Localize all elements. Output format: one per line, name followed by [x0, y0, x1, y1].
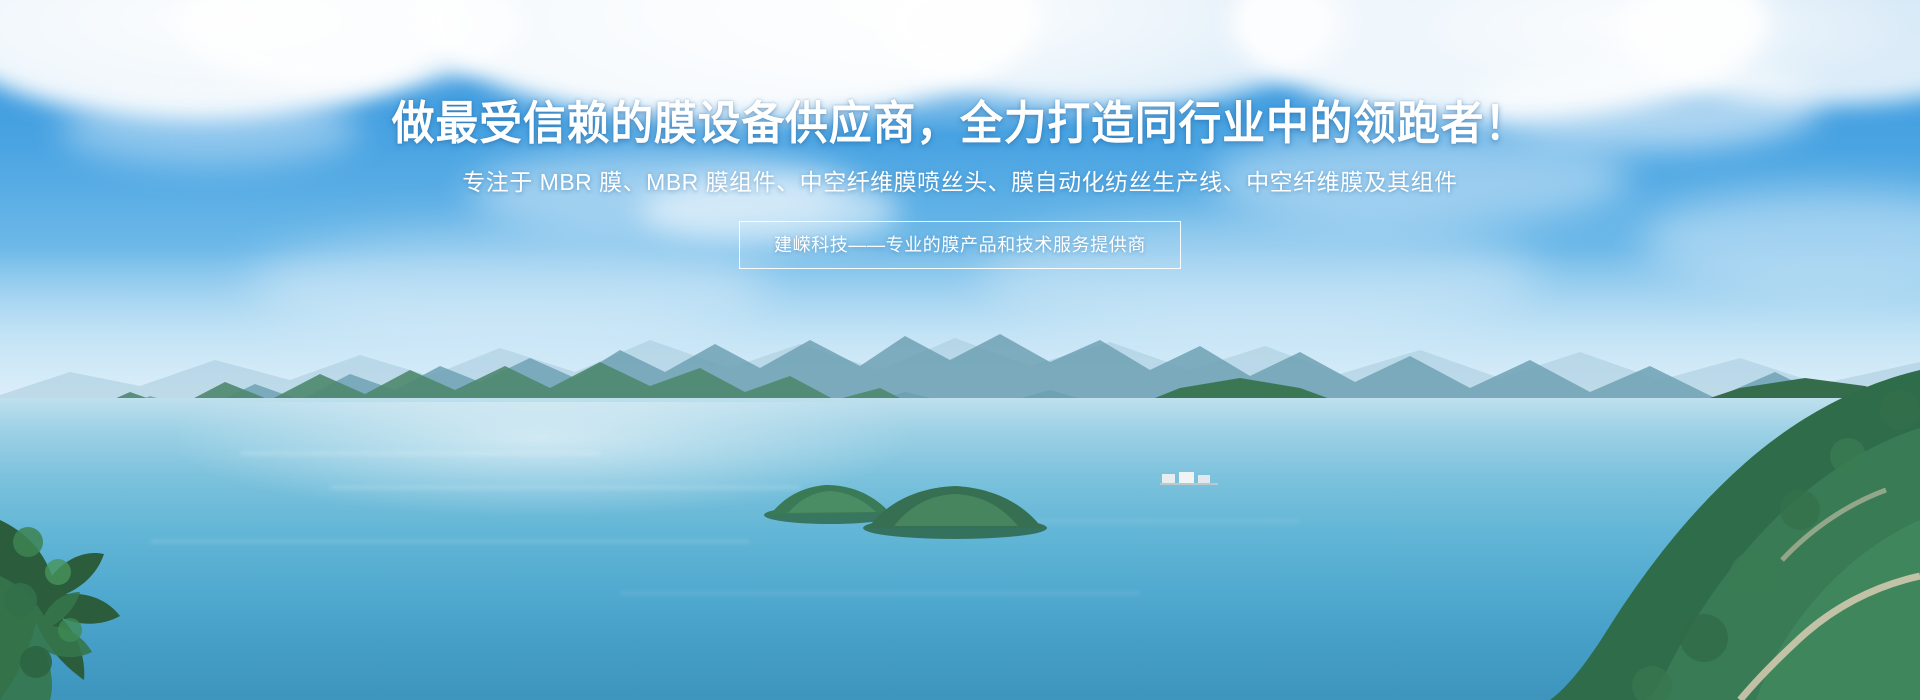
banner-tagline-box[interactable]: 建嵘科技——专业的膜产品和技术服务提供商	[739, 221, 1181, 269]
water-ripple	[240, 452, 600, 455]
water-ripple	[620, 592, 1140, 595]
water-ripple	[330, 486, 800, 489]
water-ripple	[150, 540, 750, 543]
lake-islet	[860, 480, 1050, 540]
foreground-foliage-left	[0, 480, 230, 700]
hero-banner: 做最受信赖的膜设备供应商，全力打造同行业中的领跑者！ 专注于 MBR 膜、MBR…	[0, 0, 1920, 700]
shoreline-buildings	[1160, 467, 1220, 485]
foreground-foliage-right	[1300, 370, 1920, 700]
